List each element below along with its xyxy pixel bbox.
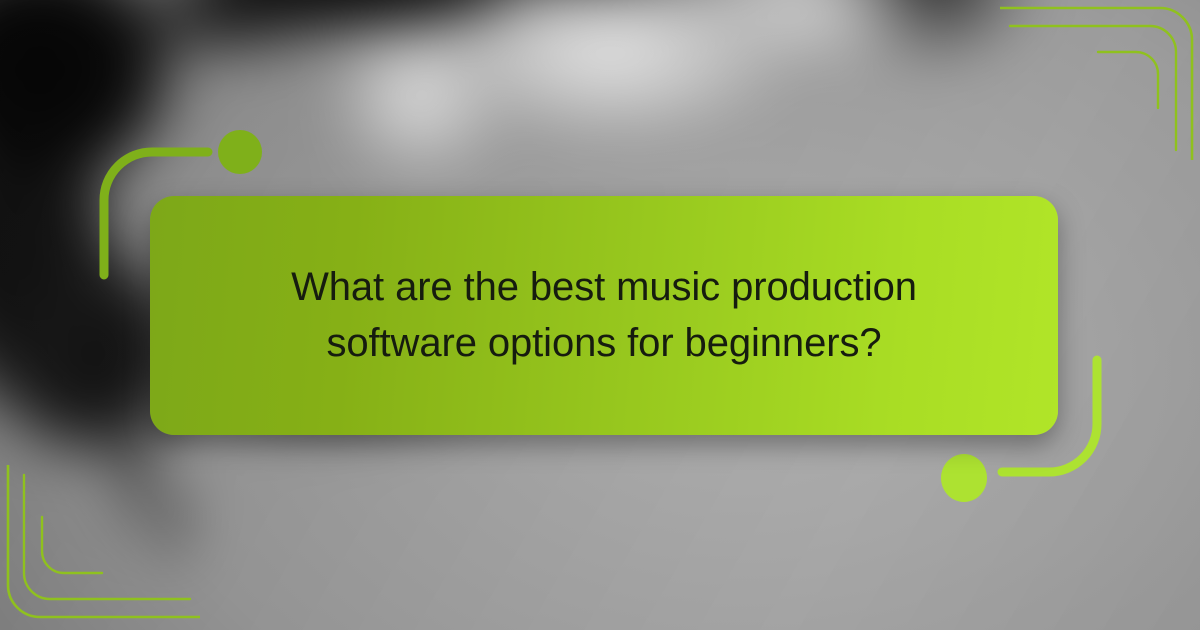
quote-text: What are the best music production softw… [200,260,1008,370]
corner-lines-top-right [1000,0,1200,165]
concentric-corner-lines-icon [1000,0,1200,160]
accent-dot-bottom-right [941,454,987,502]
quote-card-canvas: What are the best music production softw… [0,0,1200,630]
corner-lines-bottom-left [0,465,200,630]
accent-dot-top-left [218,130,262,174]
concentric-corner-lines-icon [0,465,200,625]
quote-card: What are the best music production softw… [150,196,1058,435]
